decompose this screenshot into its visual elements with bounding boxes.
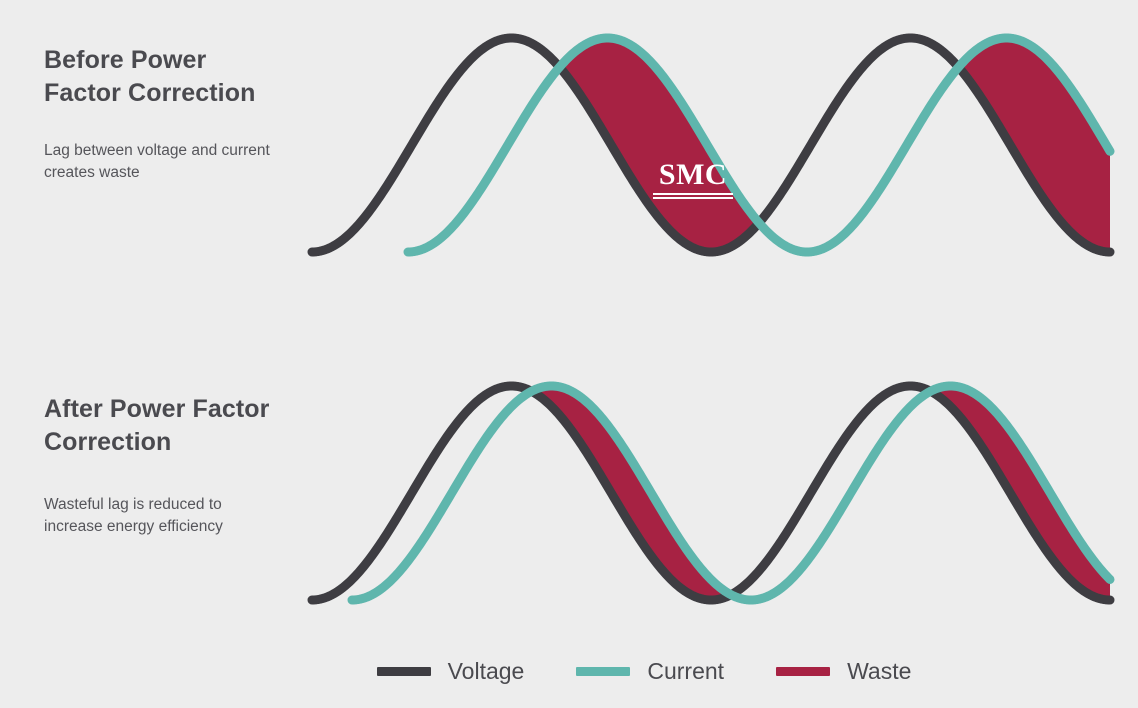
legend-label-voltage: Voltage	[448, 660, 525, 683]
waste-region-group-before	[560, 38, 1110, 252]
current-wave-after	[352, 386, 1110, 600]
legend-swatch-waste	[776, 667, 830, 676]
diagram-canvas: Before Power Factor Correction Lag betwe…	[0, 0, 1138, 708]
waste-region	[560, 38, 759, 252]
panel-title-before: Before Power Factor Correction	[44, 44, 274, 111]
voltage-wave-after	[312, 386, 1110, 600]
current-wave-before	[408, 38, 1110, 252]
voltage-wave-before	[312, 38, 1110, 252]
legend-item-voltage: Voltage	[377, 660, 525, 683]
chart-legend: Voltage Current Waste	[0, 660, 1138, 683]
legend-item-waste: Waste	[776, 660, 911, 683]
legend-label-waste: Waste	[847, 660, 911, 683]
panel-title-after: After Power Factor Correction	[44, 393, 274, 460]
panel-label-before: Before Power Factor Correction Lag betwe…	[44, 44, 274, 185]
panel-description-after: Wasteful lag is reduced to increase ener…	[44, 494, 274, 539]
smc-watermark-rule-2	[653, 197, 733, 199]
waste-region	[931, 386, 1110, 600]
smc-watermark: SMC	[653, 160, 733, 199]
legend-swatch-voltage	[377, 667, 431, 676]
waste-region-group-after	[532, 386, 1110, 600]
legend-label-current: Current	[647, 660, 724, 683]
panel-label-after: After Power Factor Correction Wasteful l…	[44, 393, 274, 539]
panel-description-before: Lag between voltage and current creates …	[44, 140, 274, 185]
legend-item-current: Current	[576, 660, 724, 683]
waste-region	[532, 386, 730, 600]
waste-region	[959, 38, 1110, 252]
legend-swatch-current	[576, 667, 630, 676]
smc-watermark-rule-1	[653, 193, 733, 195]
smc-watermark-text: SMC	[653, 160, 733, 190]
